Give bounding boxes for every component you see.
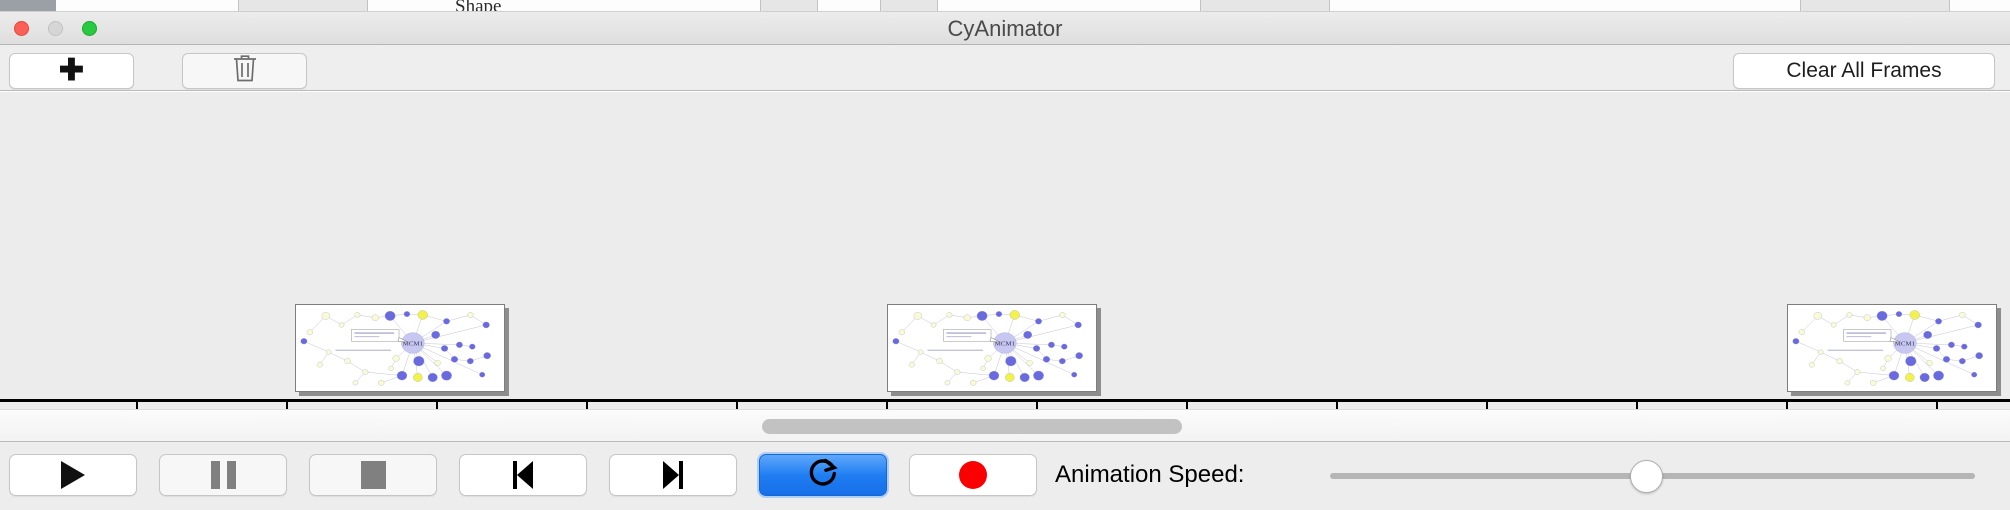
background-tab-4 <box>1200 0 1330 12</box>
loop-icon <box>806 456 840 495</box>
pause-button[interactable] <box>159 454 287 496</box>
animation-speed-label: Animation Speed: <box>1055 454 1244 496</box>
clear-all-frames-button[interactable]: Clear All Frames <box>1733 53 1995 89</box>
timeline-panel[interactable]: MCM1MCM1MCM1 12131415161718 Seconds <box>0 92 2010 409</box>
keyframe-thumbnail[interactable]: MCM1 <box>887 304 1097 392</box>
background-tab-2 <box>760 0 818 12</box>
stop-button[interactable] <box>309 454 437 496</box>
pause-icon <box>211 461 236 489</box>
toolbar: ✚ Clear All Frames <box>0 45 2010 91</box>
background-tab-3 <box>880 0 938 12</box>
background-tab-1 <box>238 0 368 12</box>
background-app-strip: Shape <box>0 0 2010 12</box>
animation-speed-slider-thumb[interactable] <box>1630 460 1663 493</box>
add-frame-button[interactable]: ✚ <box>9 53 134 89</box>
background-tab-5 <box>1800 0 1950 12</box>
delete-frame-button[interactable] <box>182 53 307 89</box>
stop-icon <box>361 461 386 489</box>
play-icon <box>61 461 85 489</box>
clear-all-frames-label: Clear All Frames <box>1786 59 1941 83</box>
trash-icon <box>232 53 258 89</box>
step-forward-button[interactable] <box>609 454 737 496</box>
record-icon <box>959 461 987 489</box>
timeline-axis-line <box>0 399 2010 402</box>
keyframe-thumbnail[interactable]: MCM1 <box>1787 304 1997 392</box>
record-button[interactable] <box>909 454 1037 496</box>
skip-next-icon <box>663 461 683 489</box>
title-bar: CyAnimator <box>0 12 2010 45</box>
background-dark-block <box>0 0 56 12</box>
background-label-shape: Shape <box>455 0 501 12</box>
keyframe-thumbnail[interactable]: MCM1 <box>295 304 505 392</box>
playback-controls: Animation Speed: <box>0 442 2010 510</box>
step-back-button[interactable] <box>459 454 587 496</box>
cyanimator-window: Shape CyAnimator ✚ Clear All Frames <box>0 0 2010 510</box>
window-title: CyAnimator <box>0 12 2010 45</box>
loop-button[interactable] <box>759 454 887 496</box>
skip-previous-icon <box>513 461 533 489</box>
play-button[interactable] <box>9 454 137 496</box>
timeline-scrollbar-thumb[interactable] <box>762 419 1182 434</box>
timeline-scrollbar[interactable] <box>0 409 2010 442</box>
plus-icon: ✚ <box>59 56 84 86</box>
